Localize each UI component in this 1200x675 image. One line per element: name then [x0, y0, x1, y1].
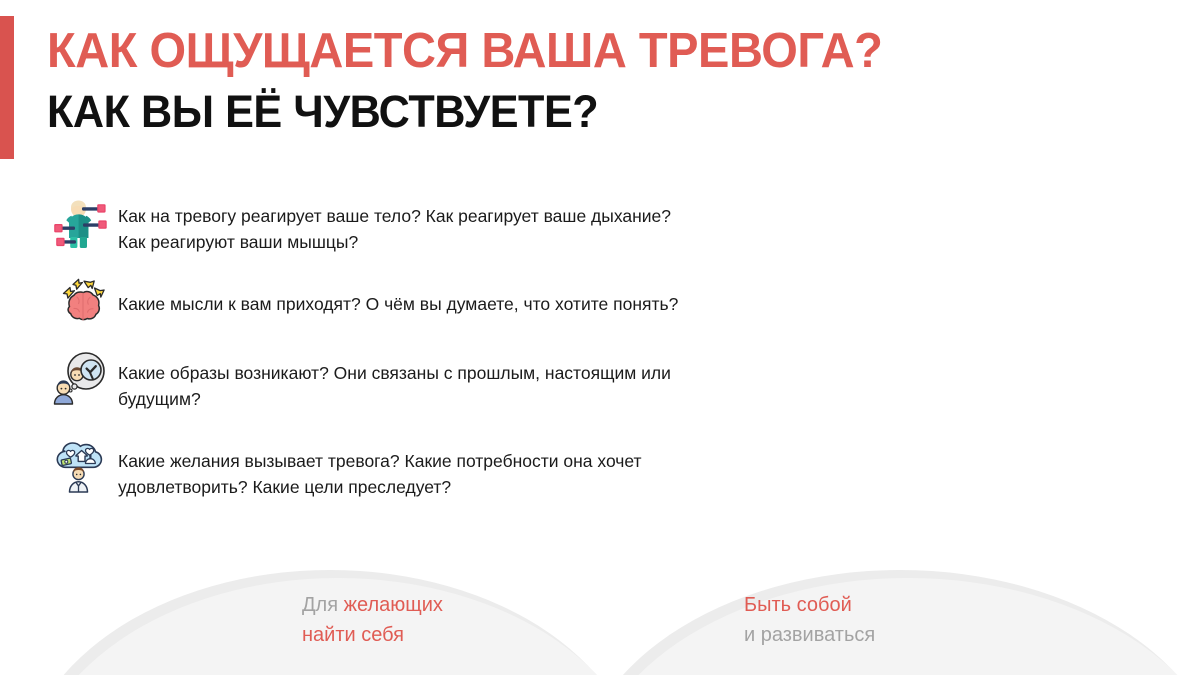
- list-item-text: Какие желания вызывает тревога? Какие по…: [118, 438, 642, 500]
- person-thought-bubble-clock-icon: [52, 351, 110, 409]
- list-item-line-2: будущим?: [118, 389, 201, 409]
- title-block: КАК ОЩУЩАЕТСЯ ВАША ТРЕВОГА? КАК ВЫ ЕЁ ЧУ…: [47, 22, 1147, 139]
- body-acupuncture-figure-icon: [52, 196, 110, 254]
- question-list: Как на тревогу реагирует ваше тело? Как …: [52, 196, 952, 500]
- list-item-text: Как на тревогу реагирует ваше тело? Как …: [118, 196, 671, 255]
- footer-right-red-line1: Быть собой: [744, 594, 852, 616]
- list-item-text: Какие мысли к вам приходят? О чём вы дум…: [118, 273, 678, 317]
- list-item-text: Какие образы возникают? Они связаны с пр…: [118, 351, 671, 412]
- footer-left-grey-word: Для: [302, 594, 338, 616]
- list-item: Какие образы возникают? Они связаны с пр…: [52, 351, 952, 412]
- footer-tagline-left: Для желающих найти себя: [302, 590, 443, 650]
- person-desires-cloud-icon: [52, 438, 110, 496]
- brain-lightning-icon: [52, 273, 110, 331]
- list-item-line-1: Какие мысли к вам приходят? О чём вы дум…: [118, 294, 678, 314]
- title-accent-bar: [0, 16, 14, 159]
- list-item-line-2: Как реагируют ваши мышцы?: [118, 232, 358, 252]
- page-title-primary: КАК ОЩУЩАЕТСЯ ВАША ТРЕВОГА?: [47, 22, 1103, 80]
- slide-canvas: КАК ОЩУЩАЕТСЯ ВАША ТРЕВОГА? КАК ВЫ ЕЁ ЧУ…: [0, 0, 1200, 675]
- list-item-line-1: Какие образы возникают? Они связаны с пр…: [118, 363, 671, 383]
- footer-right-grey-line2: и развиваться: [744, 624, 875, 646]
- footer-left-red-word: желающих: [344, 594, 443, 616]
- footer-taglines: Для желающих найти себя Быть собой и раз…: [0, 555, 1200, 675]
- list-item-line-1: Как на тревогу реагирует ваше тело? Как …: [118, 206, 671, 226]
- footer-left-red-line2: найти себя: [302, 624, 404, 646]
- list-item: Как на тревогу реагирует ваше тело? Как …: [52, 196, 952, 255]
- list-item-line-1: Какие желания вызывает тревога? Какие по…: [118, 451, 642, 471]
- footer-tagline-right: Быть собой и развиваться: [744, 590, 875, 650]
- list-item: Какие желания вызывает тревога? Какие по…: [52, 438, 952, 500]
- page-title-secondary: КАК ВЫ ЕЁ ЧУВСТВУЕТЕ?: [47, 85, 1103, 139]
- list-item-line-2: удовлетворить? Какие цели преследует?: [118, 477, 451, 497]
- list-item: Какие мысли к вам приходят? О чём вы дум…: [52, 273, 952, 331]
